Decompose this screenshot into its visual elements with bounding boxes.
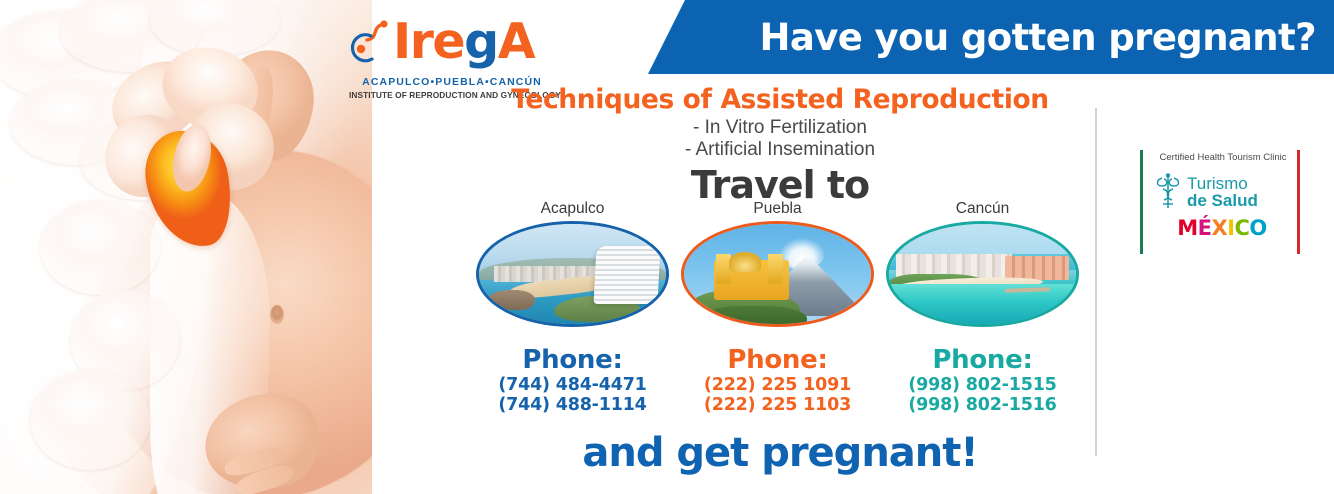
phone-number-cancun-2[interactable]: (998) 802-1516 xyxy=(880,395,1085,415)
mexico-letter-x: X xyxy=(1211,216,1227,240)
phone-label-acapulco: Phone: xyxy=(470,345,675,375)
badge-green-bar xyxy=(1140,150,1143,254)
turismo-de-salud-logo: Turismo de Salud xyxy=(1154,170,1290,214)
phone-label-puebla: Phone: xyxy=(675,345,880,375)
city-name-puebla: Puebla xyxy=(675,200,880,218)
city-name-acapulco: Acapulco xyxy=(470,200,675,218)
phone-number-puebla-2[interactable]: (222) 225 1103 xyxy=(675,395,880,415)
mexico-letter-o: O xyxy=(1249,216,1266,240)
mexico-letter-i: I xyxy=(1227,216,1234,240)
phone-label-cancun: Phone: xyxy=(880,345,1085,375)
techniques-title: Techniques of Assisted Reproduction xyxy=(460,84,1100,115)
bullet-artificial-insemination: - Artificial Insemination xyxy=(460,139,1100,161)
phone-number-acapulco-1[interactable]: (744) 484-4471 xyxy=(470,375,675,395)
badge-word-de-salud: de Salud xyxy=(1187,192,1258,209)
wordmark-g: g xyxy=(464,13,498,70)
pregnant-belly-with-orchid-photo xyxy=(0,0,372,494)
certification-badge: Certified Health Tourism Clinic Turis xyxy=(1140,150,1300,254)
badge-caption: Certified Health Tourism Clinic xyxy=(1150,152,1296,163)
promo-banner: Have you gotten pregnant? IregA ACAPULCO… xyxy=(0,0,1334,494)
bullet-in-vitro: - In Vitro Fertilization xyxy=(460,117,1100,139)
phone-block-puebla: Phone: (222) 225 1091 (222) 225 1103 xyxy=(675,345,880,415)
irega-wordmark: IregA xyxy=(393,14,534,70)
ruffle xyxy=(30,370,150,470)
badge-red-bar xyxy=(1297,150,1300,254)
wordmark-a: A xyxy=(498,13,534,70)
mexico-wordmark: MÉXICO xyxy=(1154,216,1290,240)
phone-number-acapulco-2[interactable]: (744) 488-1114 xyxy=(470,395,675,415)
headline-text: Have you gotten pregnant? xyxy=(760,16,1317,59)
vertical-divider xyxy=(1095,108,1097,456)
cancun-beach-photo xyxy=(886,221,1079,327)
city-card-puebla[interactable]: Puebla xyxy=(675,200,880,327)
phone-number-cancun-1[interactable]: (998) 802-1515 xyxy=(880,375,1085,395)
city-card-cancun[interactable]: Cancún xyxy=(880,200,1085,327)
badge-wordmark: Turismo de Salud xyxy=(1187,175,1258,209)
wordmark-ire: Ire xyxy=(393,13,464,70)
caduceus-icon xyxy=(1154,172,1182,212)
headline-banner: Have you gotten pregnant? xyxy=(648,0,1334,74)
badge-word-turismo: Turismo xyxy=(1187,175,1258,192)
phone-block-cancun: Phone: (998) 802-1515 (998) 802-1516 xyxy=(880,345,1085,415)
phone-number-puebla-1[interactable]: (222) 225 1091 xyxy=(675,375,880,395)
acapulco-bay-photo xyxy=(476,221,669,327)
mexico-letter-e: É xyxy=(1198,216,1212,240)
bottom-tagline: and get pregnant! xyxy=(460,430,1100,476)
city-name-cancun: Cancún xyxy=(880,200,1085,218)
mexico-letter-m: M xyxy=(1177,216,1197,240)
phone-block-acapulco: Phone: (744) 484-4471 (744) 488-1114 xyxy=(470,345,675,415)
mexico-letter-c: C xyxy=(1235,216,1250,240)
orchid-flower xyxy=(100,42,275,232)
navel xyxy=(270,305,284,324)
puebla-church-volcano-photo xyxy=(681,221,874,327)
city-card-acapulco[interactable]: Acapulco xyxy=(470,200,675,327)
